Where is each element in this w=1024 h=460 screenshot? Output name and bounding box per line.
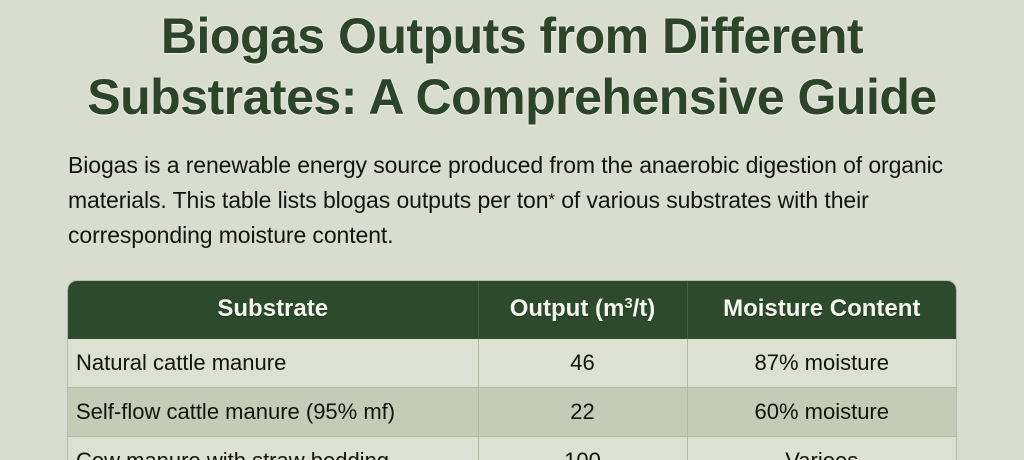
cell-output: 22: [478, 388, 687, 437]
table-header-row: Substrate Output (m3/t) Moisture Content: [68, 281, 956, 339]
table-row: Natural cattle manure 46 87% moisture: [68, 339, 956, 388]
cell-substrate: Natural cattle manure: [68, 339, 478, 388]
cell-output: 46: [478, 339, 687, 388]
cell-output: 100: [478, 437, 687, 460]
table-header: Substrate Output (m3/t) Moisture Content: [68, 281, 956, 339]
output-header-suffix: /t): [633, 295, 656, 322]
output-header-exponent: 3: [624, 296, 632, 312]
cell-moisture: Varioes: [687, 437, 956, 460]
substrate-table: Substrate Output (m3/t) Moisture Content…: [68, 281, 956, 460]
cell-moisture: 60% moisture: [687, 388, 956, 437]
document-page: Biogas Outputs from Different Substrates…: [0, 0, 1024, 460]
cell-moisture: 87% moisture: [687, 339, 956, 388]
column-header-substrate: Substrate: [68, 281, 478, 339]
column-header-output: Output (m3/t): [478, 281, 687, 339]
substrate-table-container: Substrate Output (m3/t) Moisture Content…: [68, 281, 956, 460]
column-header-moisture: Moisture Content: [687, 281, 956, 339]
cell-substrate: Self-flow cattle manure (95% mf): [68, 388, 478, 437]
table-row: Cow manure with straw bedding 100 Varioe…: [68, 437, 956, 460]
table-row: Self-flow cattle manure (95% mf) 22 60% …: [68, 388, 956, 437]
intro-paragraph: Biogas is a renewable energy source prod…: [0, 128, 1024, 253]
table-body: Natural cattle manure 46 87% moisture Se…: [68, 339, 956, 460]
page-title: Biogas Outputs from Different Substrates…: [0, 0, 1024, 128]
output-header-prefix: Output (m: [510, 295, 625, 322]
cell-substrate: Cow manure with straw bedding: [68, 437, 478, 460]
